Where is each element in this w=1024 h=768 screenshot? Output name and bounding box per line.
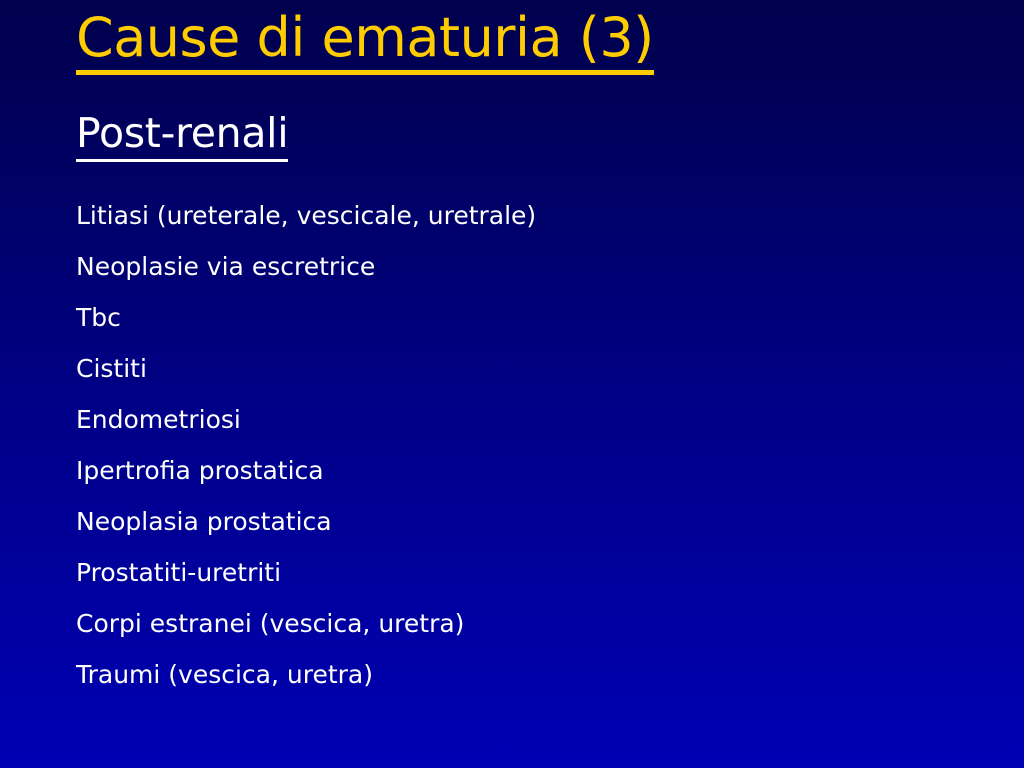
list-item: Cistiti <box>76 343 976 394</box>
list-item: Prostatiti-uretriti <box>76 547 976 598</box>
content-list: Litiasi (ureterale, vescicale, uretrale)… <box>76 190 976 700</box>
list-item: Traumi (vescica, uretra) <box>76 649 976 700</box>
list-item: Endometriosi <box>76 394 976 445</box>
slide-subheading-block: Post-renali <box>76 108 956 162</box>
list-item: Litiasi (ureterale, vescicale, uretrale) <box>76 190 976 241</box>
subheading-underline-rule <box>76 159 288 162</box>
list-item: Neoplasia prostatica <box>76 496 976 547</box>
list-item: Neoplasie via escretrice <box>76 241 976 292</box>
page-title: Cause di ematuria (3) <box>76 8 654 68</box>
slide-canvas: Cause di ematuria (3) Post-renali Litias… <box>0 0 1024 768</box>
section-subheading: Post-renali <box>76 108 288 158</box>
slide-title-block: Cause di ematuria (3) <box>76 8 956 75</box>
list-item: Ipertrofia prostatica <box>76 445 976 496</box>
title-underline-rule <box>76 70 654 75</box>
list-item: Corpi estranei (vescica, uretra) <box>76 598 976 649</box>
list-item: Tbc <box>76 292 976 343</box>
